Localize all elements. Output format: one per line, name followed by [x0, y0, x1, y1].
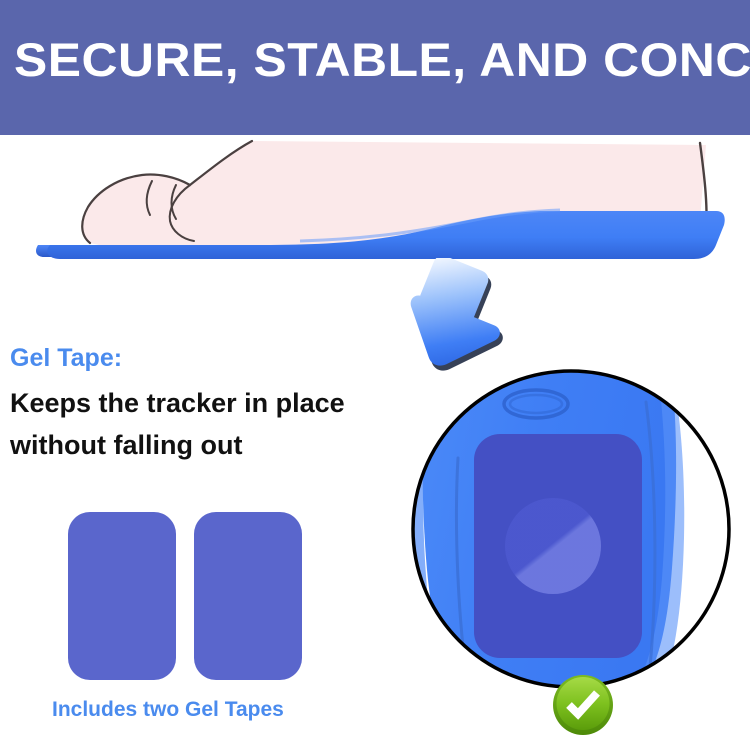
down-arrow-icon [385, 258, 535, 378]
gel-tape-description-line-1: Keeps the tracker in place [10, 388, 345, 419]
tracker-disc [505, 498, 601, 594]
header-banner: SECURE, STABLE, AND CONCEALE [0, 0, 750, 135]
approved-check-icon [552, 674, 614, 736]
product-infographic: SECURE, STABLE, AND CONCEALE [0, 0, 750, 750]
magnified-detail-circle [410, 368, 732, 690]
gel-tape-heading: Gel Tape: [10, 344, 122, 373]
gel-tape-description-line-2: without falling out [10, 430, 242, 461]
gel-tape-pad [68, 512, 176, 680]
page-title: SECURE, STABLE, AND CONCEALE [14, 32, 750, 88]
gel-tape-pad [194, 512, 302, 680]
gel-tapes-caption: Includes two Gel Tapes [52, 698, 284, 722]
foot-on-insole-illustration [0, 133, 750, 273]
